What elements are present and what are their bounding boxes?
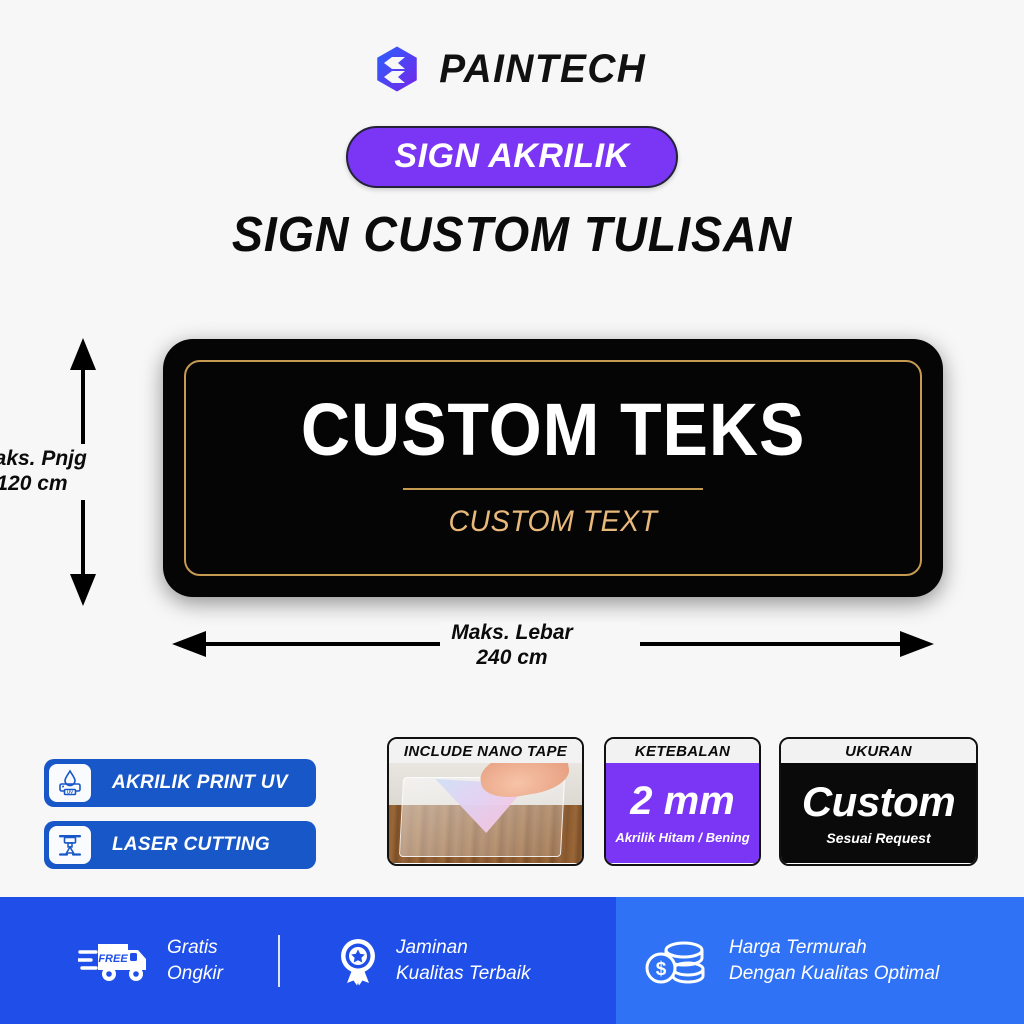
thickness-note: Akrilik Hitam / Bening: [615, 830, 749, 845]
benefit-harga-termurah: $ Harga Termurah Dengan Kualitas Optimal: [644, 935, 939, 986]
benefits-banner-left: FREE Gratis Ongkir: [0, 897, 616, 1024]
card-body: Custom Sesuai Request: [781, 763, 976, 863]
benefits-banner-right: $ Harga Termurah Dengan Kualitas Optimal: [616, 897, 1024, 1024]
svg-text:$: $: [656, 959, 667, 980]
quality-badge-icon: [335, 936, 381, 986]
size-note: Sesuai Request: [826, 830, 930, 846]
card-include-nano-tape: INCLUDE NANO TAPE: [387, 737, 584, 866]
card-title: INCLUDE NANO TAPE: [389, 739, 582, 763]
coins-icon: $: [644, 936, 714, 986]
sign-custom-text-secondary: CUSTOM TEXT: [449, 505, 658, 539]
category-badge-label: SIGN AKRILIK: [394, 139, 629, 173]
card-title: KETEBALAN: [606, 739, 759, 763]
category-badge: SIGN AKRILIK: [346, 126, 677, 188]
feature-akrilik-print-uv[interactable]: UV AKRILIK PRINT UV: [44, 759, 316, 807]
uv-printer-icon: UV: [48, 763, 92, 803]
brand-name: PAINTECH: [439, 49, 646, 89]
benefit-gratis-ongkir: FREE Gratis Ongkir: [78, 935, 223, 986]
page-title: SIGN CUSTOM TULISAN: [26, 210, 999, 261]
svg-text:FREE: FREE: [98, 953, 128, 965]
width-dimension-label: Maks. Lebar 240 cm: [0, 620, 1024, 670]
nano-tape-photo: [389, 763, 582, 863]
category-badge-wrap: SIGN AKRILIK: [0, 126, 1024, 188]
thickness-value: 2 mm: [630, 781, 735, 821]
laser-cutter-icon: [48, 825, 92, 865]
benefits-banner: FREE Gratis Ongkir: [0, 897, 1024, 1024]
card-ketebalan: KETEBALAN 2 mm Akrilik Hitam / Bening: [604, 737, 761, 866]
sign-divider: [403, 488, 703, 490]
sign-inner-frame: CUSTOM TEKS CUSTOM TEXT: [184, 360, 922, 576]
product-poster: PAINTECH SIGN AKRILIK SIGN CUSTOM TULISA…: [0, 0, 1024, 1024]
size-value: Custom: [802, 781, 955, 823]
brand-header: PAINTECH: [0, 44, 1024, 94]
card-ukuran: UKURAN Custom Sesuai Request: [779, 737, 978, 866]
feature-label: AKRILIK PRINT UV: [112, 772, 288, 794]
paintech-hex-logo-icon: [374, 44, 420, 94]
card-title: UKURAN: [781, 739, 976, 763]
svg-text:UV: UV: [67, 790, 73, 795]
acrylic-sign-preview: CUSTOM TEKS CUSTOM TEXT: [163, 339, 943, 597]
feature-label: LASER CUTTING: [112, 834, 270, 856]
feature-laser-cutting[interactable]: LASER CUTTING: [44, 821, 316, 869]
free-delivery-truck-icon: FREE: [78, 936, 152, 986]
card-body: 2 mm Akrilik Hitam / Bening: [606, 763, 759, 863]
benefit-text: Harga Termurah Dengan Kualitas Optimal: [729, 935, 939, 986]
height-dimension-label: Maks. Pnjg 120 cm: [0, 444, 112, 500]
benefit-text: Jaminan Kualitas Terbaik: [396, 935, 530, 986]
benefit-text: Gratis Ongkir: [167, 935, 223, 986]
benefit-jaminan-kualitas: Jaminan Kualitas Terbaik: [335, 935, 530, 986]
sign-custom-text-primary: CUSTOM TEKS: [301, 393, 805, 467]
banner-divider: [278, 935, 280, 987]
